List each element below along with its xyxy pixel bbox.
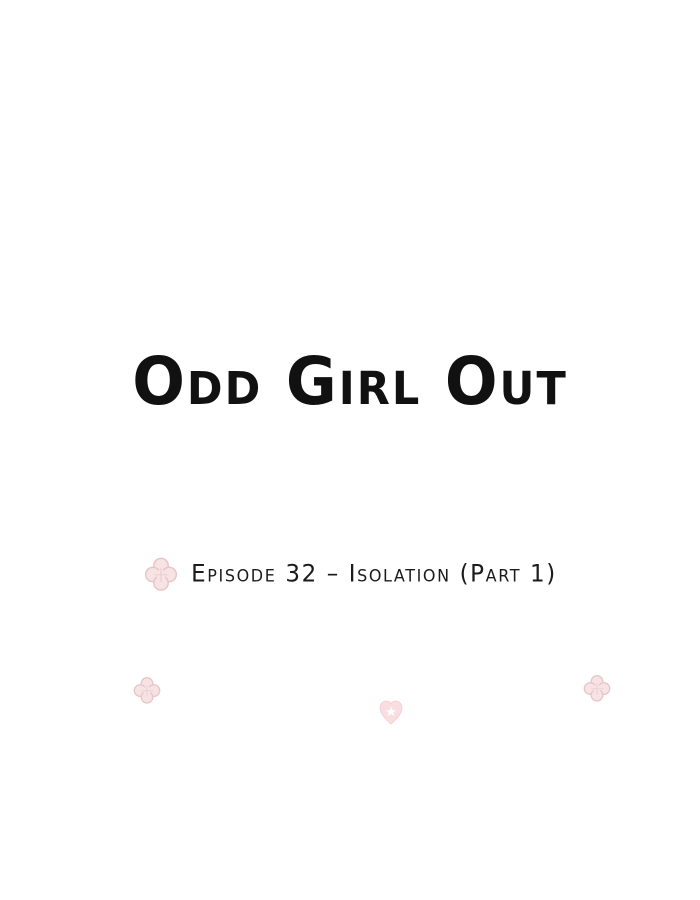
- clover-icon: [143, 556, 179, 594]
- subtitle-block: Episode 32 – Isolation (Part 1): [0, 552, 700, 596]
- title-block: Odd Girl Out: [0, 336, 700, 436]
- episode-subtitle: Episode 32 – Isolation (Part 1): [191, 560, 557, 587]
- title-page: Odd Girl Out: [0, 0, 700, 900]
- clover-icon: [132, 675, 162, 707]
- heart-icon: [378, 699, 404, 725]
- page-title: Odd Girl Out: [0, 336, 700, 427]
- clover-icon: [582, 673, 612, 705]
